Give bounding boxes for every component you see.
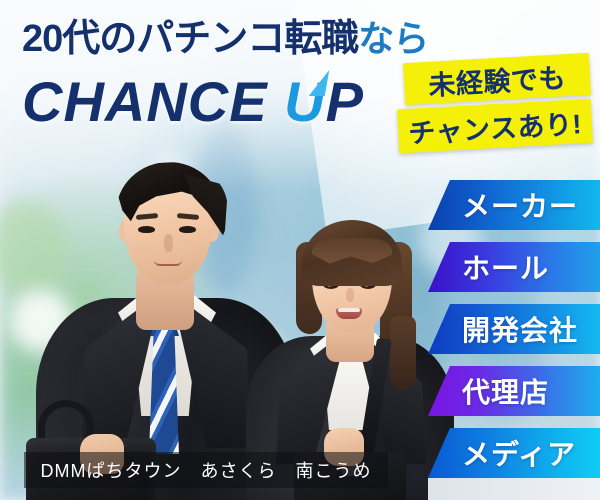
male-eye-right xyxy=(179,226,196,233)
headline-main: 20代のパチンコ転職 xyxy=(22,18,358,60)
female-ponytail xyxy=(390,316,416,390)
nav-button-label: ホール xyxy=(462,247,549,287)
pachinko-recruitment-banner: 20代のパチンコ転職なら CHANCE UP 未経験でも チャンスあり! メーカ… xyxy=(0,0,600,500)
nav-button-label: 代理店 xyxy=(462,371,549,411)
nav-button-label: メーカー xyxy=(462,185,578,225)
badge-label: 未経験でも xyxy=(427,56,566,103)
male-striped-necktie xyxy=(149,326,179,454)
male-mouth xyxy=(154,260,182,266)
bottom-right-strip xyxy=(428,478,600,500)
nav-button-label: 開発会社 xyxy=(462,309,578,349)
credit-text: DMMぱちタウン あさくら 南こうめ xyxy=(41,457,372,483)
nav-button-development-company[interactable]: 開発会社 xyxy=(428,304,600,354)
nav-button-label: メディア xyxy=(462,433,576,473)
nav-button-maker[interactable]: メーカー xyxy=(428,180,600,230)
credit-bar: DMMぱちタウン あさくら 南こうめ xyxy=(24,452,388,488)
nav-button-hall[interactable]: ホール xyxy=(428,242,600,292)
male-eye-left xyxy=(138,226,155,233)
chance-up-logo: CHANCE UP xyxy=(22,74,364,130)
logo-text-before: CHANCE xyxy=(22,70,284,133)
headline-suffix: なら xyxy=(358,18,428,59)
nav-button-agency[interactable]: 代理店 xyxy=(428,366,600,416)
nav-button-media[interactable]: メディア xyxy=(428,428,600,478)
headline: 20代のパチンコ転職なら xyxy=(22,20,428,58)
female-nose xyxy=(346,288,354,302)
male-nose xyxy=(164,234,173,252)
logo-text-after: P xyxy=(326,70,364,133)
female-mouth xyxy=(336,308,362,319)
badge-label: チャンスあり! xyxy=(407,102,583,151)
logo-letter-u: U xyxy=(284,74,325,130)
